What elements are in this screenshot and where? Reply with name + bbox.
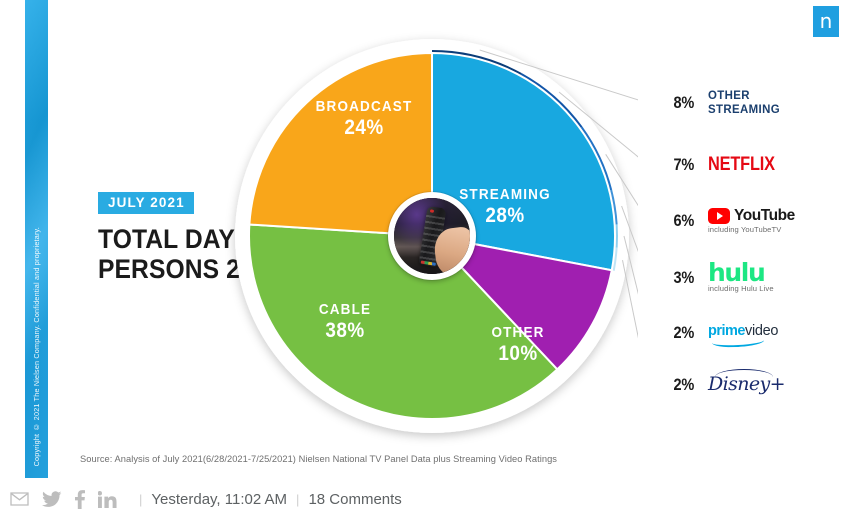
- nielsen-logo-letter: n: [820, 11, 833, 31]
- prime-video-logo: primevideo: [708, 323, 778, 344]
- legend-row-netflix[interactable]: 7% NETFLIX: [660, 148, 786, 182]
- legend-brand-prime-video: primevideo: [708, 323, 778, 344]
- legend-brand-netflix: NETFLIX: [708, 155, 786, 175]
- legend-pct-disney-plus: 2%: [664, 376, 694, 395]
- comments-link[interactable]: 18 Comments: [308, 491, 401, 508]
- footer-separator-2: |: [296, 492, 299, 507]
- prime-smile-icon: [712, 334, 765, 348]
- nielsen-logo[interactable]: n: [813, 6, 839, 37]
- hulu-logo: hulu: [708, 263, 774, 284]
- email-icon[interactable]: [10, 488, 29, 510]
- legend-brand-other-streaming: OTHER STREAMING: [708, 89, 785, 117]
- page-root: Copyright © 2021 The Nielsen Company. Co…: [0, 0, 853, 520]
- linkedin-icon[interactable]: [98, 488, 117, 510]
- youtube-logo: YouTube: [708, 208, 795, 224]
- copyright-text: Copyright © 2021 The Nielsen Company. Co…: [32, 227, 41, 466]
- legend-pct-prime-video: 2%: [664, 324, 694, 343]
- legend-pct-youtube: 6%: [664, 212, 694, 231]
- other-streaming-logo: OTHER STREAMING: [708, 89, 780, 117]
- date-badge: JULY 2021: [98, 192, 194, 214]
- disney-arc-icon: [715, 369, 773, 385]
- post-timestamp: Yesterday, 11:02 AM: [151, 491, 287, 508]
- youtube-sublabel: including YouTubeTV: [708, 226, 795, 234]
- legend-brand-disney-plus: Disney+: [708, 375, 785, 395]
- copyright-notice: Copyright © 2021 The Nielsen Company. Co…: [25, 0, 48, 478]
- netflix-logo: NETFLIX: [708, 155, 775, 175]
- legend-row-disney-plus[interactable]: 2% Disney+: [660, 368, 785, 402]
- legend-brand-youtube: YouTube including YouTubeTV: [708, 208, 795, 234]
- legend-brand-hulu: hulu including Hulu Live: [708, 263, 774, 293]
- facebook-icon[interactable]: [75, 488, 85, 510]
- legend-row-other-streaming[interactable]: 8% OTHER STREAMING: [660, 86, 785, 120]
- legend-pct-other-streaming: 8%: [664, 94, 694, 113]
- legend-row-youtube[interactable]: 6% YouTube including YouTubeTV: [660, 204, 795, 238]
- legend-row-hulu[interactable]: 3% hulu including Hulu Live: [660, 261, 774, 295]
- center-photo-remote-control: [388, 192, 476, 280]
- infographic-card: Copyright © 2021 The Nielsen Company. Co…: [0, 0, 853, 478]
- power-button-icon: [430, 209, 435, 213]
- disney-plus-logo: Disney+: [708, 375, 785, 395]
- leader-line-disney-: [623, 260, 639, 385]
- pie-chart: BROADCAST 24% STREAMING 28% CABLE 38% OT…: [218, 19, 638, 451]
- other-streaming-line2: STREAMING: [708, 103, 780, 117]
- footer-separator-1: |: [139, 492, 142, 507]
- source-note: Source: Analysis of July 2021(6/28/2021-…: [80, 454, 557, 464]
- legend-pct-netflix: 7%: [664, 156, 694, 175]
- youtube-wordmark: YouTube: [734, 208, 795, 224]
- twitter-icon[interactable]: [42, 488, 62, 510]
- other-streaming-line1: OTHER: [708, 89, 780, 103]
- post-footer-bar: | Yesterday, 11:02 AM | 18 Comments: [0, 478, 853, 520]
- legend-row-prime-video[interactable]: 2% primevideo: [660, 316, 778, 350]
- hulu-sublabel: including Hulu Live: [708, 285, 774, 293]
- legend-pct-hulu: 3%: [664, 269, 694, 288]
- youtube-play-icon: [708, 208, 730, 224]
